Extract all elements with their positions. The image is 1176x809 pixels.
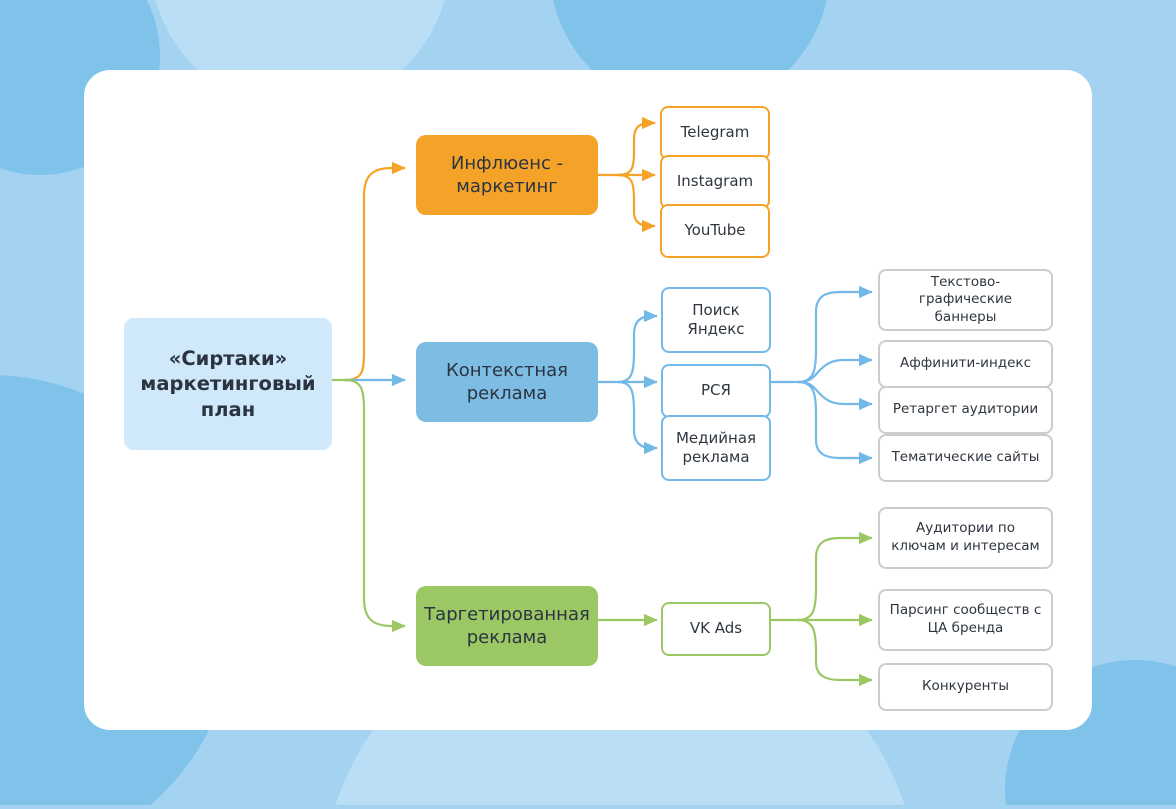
node-community-parsing-label: Парсинг сообществ с ЦА бренда	[880, 602, 1051, 637]
node-telegram-label: Telegram	[673, 123, 758, 143]
diagram-stage: «Сиртаки» маркетинговый план Инфлюенс - …	[0, 0, 1176, 805]
node-influence-marketing[interactable]: Инфлюенс - маркетинг	[416, 135, 598, 215]
node-community-parsing[interactable]: Парсинг сообществ с ЦА бренда	[878, 589, 1053, 651]
node-targeted-advertising-label: Таргетированная реклама	[416, 603, 598, 650]
node-text-graphic-banners-label: Текстово-графические баннеры	[880, 274, 1051, 327]
node-competitors-label: Конкуренты	[914, 678, 1017, 696]
node-instagram[interactable]: Instagram	[660, 155, 770, 209]
node-yandex-search[interactable]: Поиск Яндекс	[661, 287, 771, 353]
node-text-graphic-banners[interactable]: Текстово-графические баннеры	[878, 269, 1053, 331]
node-youtube[interactable]: YouTube	[660, 204, 770, 258]
node-retargeting-audience-label: Ретаргет аудитории	[885, 401, 1046, 419]
node-telegram[interactable]: Telegram	[660, 106, 770, 160]
node-thematic-sites-label: Тематические сайты	[884, 449, 1048, 467]
node-yandex-search-label: Поиск Яндекс	[663, 301, 769, 340]
node-youtube-label: YouTube	[677, 221, 754, 241]
node-media-advertising[interactable]: Медийная реклама	[661, 415, 771, 481]
node-root-label: «Сиртаки» маркетинговый план	[124, 346, 332, 422]
node-vk-ads[interactable]: VK Ads	[661, 602, 771, 656]
node-thematic-sites[interactable]: Тематические сайты	[878, 434, 1053, 482]
node-influence-marketing-label: Инфлюенс - маркетинг	[416, 152, 598, 199]
node-targeted-advertising[interactable]: Таргетированная реклама	[416, 586, 598, 666]
node-affinity-index-label: Аффинити-индекс	[892, 355, 1039, 373]
node-rsya-label: РСЯ	[693, 381, 739, 401]
node-audiences-by-keywords[interactable]: Аудитории по ключам и интересам	[878, 507, 1053, 569]
node-context-advertising-label: Контекстная реклама	[416, 359, 598, 406]
node-vk-ads-label: VK Ads	[682, 619, 750, 639]
node-audiences-by-keywords-label: Аудитории по ключам и интересам	[880, 520, 1051, 555]
node-affinity-index[interactable]: Аффинити-индекс	[878, 340, 1053, 388]
node-instagram-label: Instagram	[669, 172, 761, 192]
node-root[interactable]: «Сиртаки» маркетинговый план	[124, 318, 332, 450]
node-retargeting-audience[interactable]: Ретаргет аудитории	[878, 386, 1053, 434]
node-competitors[interactable]: Конкуренты	[878, 663, 1053, 711]
node-rsya[interactable]: РСЯ	[661, 364, 771, 418]
node-context-advertising[interactable]: Контекстная реклама	[416, 342, 598, 422]
node-media-advertising-label: Медийная реклама	[663, 429, 769, 468]
